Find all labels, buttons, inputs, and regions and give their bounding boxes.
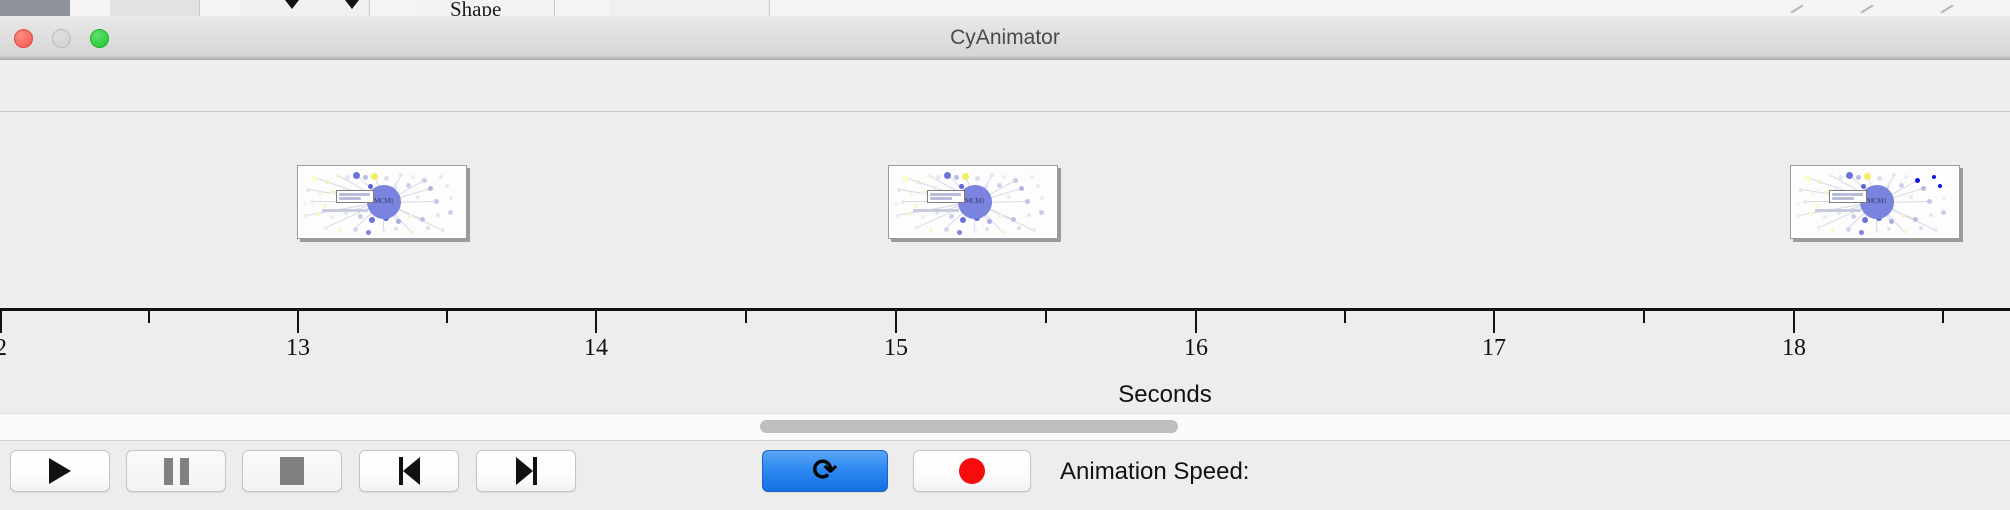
axis-tick-minor bbox=[148, 311, 150, 323]
network-node bbox=[1816, 204, 1820, 208]
frame-network-preview: MCM1 bbox=[891, 168, 1055, 236]
axis-tick-label: 15 bbox=[884, 335, 908, 362]
timeline-frame[interactable]: MCM1 bbox=[297, 165, 467, 239]
network-hub-label: MCM1 bbox=[965, 197, 984, 205]
frame-network-preview: MCM1 bbox=[1793, 168, 1957, 236]
network-node bbox=[1851, 214, 1856, 219]
network-node bbox=[901, 200, 905, 204]
pause-icon bbox=[164, 458, 189, 485]
network-node bbox=[954, 175, 959, 180]
network-node bbox=[1942, 196, 1946, 200]
network-node bbox=[1927, 199, 1932, 204]
axis-tick-label: 17 bbox=[1482, 335, 1506, 362]
axis-tick-minor bbox=[446, 311, 448, 323]
loop-button[interactable]: ⟳ bbox=[762, 450, 888, 492]
network-node bbox=[1030, 175, 1034, 179]
animation-speed-label: Animation Speed: bbox=[1060, 458, 1249, 486]
network-caption-text bbox=[1815, 209, 1861, 212]
network-node bbox=[338, 228, 342, 232]
network-node bbox=[1823, 215, 1827, 219]
network-node bbox=[1040, 196, 1044, 200]
network-node bbox=[434, 199, 439, 204]
network-node bbox=[990, 173, 994, 177]
network-node bbox=[304, 214, 308, 218]
network-node bbox=[914, 204, 918, 208]
network-node bbox=[368, 184, 373, 189]
network-node bbox=[909, 192, 913, 196]
network-node bbox=[311, 175, 318, 182]
network-node bbox=[336, 174, 340, 178]
network-node bbox=[927, 174, 931, 178]
network-annotation-text bbox=[930, 193, 961, 196]
skip-next-icon bbox=[516, 457, 537, 485]
network-node bbox=[936, 175, 941, 180]
network-node bbox=[1829, 174, 1833, 178]
network-node bbox=[324, 226, 328, 230]
network-node bbox=[1831, 228, 1835, 232]
axis-tick-major bbox=[297, 311, 299, 333]
network-node bbox=[1938, 184, 1942, 188]
network-annotation-text bbox=[1832, 197, 1854, 200]
network-node bbox=[1929, 213, 1933, 217]
network-node bbox=[448, 210, 453, 215]
network-node bbox=[408, 214, 412, 218]
network-node bbox=[1875, 229, 1879, 233]
network-caption-text bbox=[913, 209, 959, 212]
timeline-frame[interactable]: MCM1 bbox=[888, 165, 1058, 239]
network-node bbox=[1838, 175, 1843, 180]
network-node bbox=[1804, 175, 1811, 182]
network-node bbox=[1899, 183, 1904, 188]
network-node bbox=[422, 178, 427, 183]
network-node bbox=[371, 173, 378, 180]
record-icon bbox=[959, 458, 985, 484]
network-node bbox=[985, 227, 989, 231]
network-node bbox=[1934, 228, 1938, 232]
network-node bbox=[1903, 230, 1907, 234]
network-node bbox=[331, 190, 335, 194]
network-node bbox=[303, 202, 307, 206]
network-node bbox=[316, 212, 320, 216]
network-node bbox=[1803, 200, 1807, 204]
network-node bbox=[323, 204, 327, 208]
axis-tick-label: 16 bbox=[1184, 335, 1208, 362]
network-node bbox=[1859, 230, 1864, 235]
network-node bbox=[325, 180, 329, 184]
axis-tick-label: 18 bbox=[1782, 335, 1806, 362]
network-node bbox=[416, 195, 420, 199]
axis-tick-label: 2 bbox=[0, 335, 7, 362]
axis-tick-minor bbox=[1344, 311, 1346, 323]
network-node bbox=[369, 217, 375, 223]
axis-tick-major bbox=[1195, 311, 1197, 333]
network-node bbox=[1941, 210, 1946, 215]
network-annotation-text bbox=[339, 193, 370, 196]
network-node bbox=[445, 184, 449, 188]
network-node bbox=[358, 214, 363, 219]
axis-tick-major bbox=[0, 311, 2, 333]
network-node bbox=[363, 175, 368, 180]
stop-button[interactable] bbox=[242, 450, 342, 492]
network-node bbox=[1889, 219, 1894, 224]
skip-previous-icon bbox=[399, 457, 420, 485]
network-node bbox=[1915, 178, 1920, 183]
background-window-strip: Shape bbox=[0, 0, 2010, 16]
network-node bbox=[436, 213, 440, 217]
network-node bbox=[306, 188, 310, 192]
axis-tick-major bbox=[895, 311, 897, 333]
axis-tick-label: 14 bbox=[584, 335, 608, 362]
play-icon bbox=[49, 458, 71, 484]
network-node bbox=[310, 200, 314, 204]
resize-arrow-icon bbox=[1941, 4, 1954, 13]
network-node bbox=[1892, 173, 1896, 177]
network-node bbox=[1011, 217, 1016, 222]
network-node bbox=[975, 176, 980, 181]
cyanimator-window: Shape CyAnimator Clear All Frames MCM1MC… bbox=[0, 0, 2010, 510]
network-node bbox=[1877, 176, 1882, 181]
window-title: CyAnimator bbox=[0, 16, 2010, 60]
timeline-panel[interactable]: MCM1MCM1MCM1 2131415161718 Seconds bbox=[0, 113, 2010, 413]
next-button[interactable] bbox=[476, 450, 576, 492]
network-node bbox=[318, 192, 322, 196]
network-node bbox=[997, 183, 1002, 188]
network-node bbox=[929, 228, 933, 232]
previous-button[interactable] bbox=[359, 450, 459, 492]
background-window-dark-chunk bbox=[0, 0, 70, 16]
network-node bbox=[922, 190, 926, 194]
axis-tick-major bbox=[1493, 311, 1495, 333]
axis-tick-minor bbox=[745, 311, 747, 323]
network-node bbox=[1887, 227, 1891, 231]
axis-tick-major bbox=[1793, 311, 1795, 333]
axis-title: Seconds bbox=[0, 381, 2010, 409]
chevron-down-icon bbox=[285, 0, 299, 9]
network-node bbox=[1001, 230, 1005, 234]
network-node bbox=[1036, 184, 1040, 188]
network-node bbox=[411, 175, 415, 179]
network-annotation-text bbox=[1832, 193, 1863, 196]
timeline-scroll-thumb[interactable] bbox=[760, 420, 1178, 433]
network-node bbox=[1921, 186, 1926, 191]
network-node bbox=[1002, 175, 1006, 179]
loop-icon: ⟳ bbox=[812, 456, 837, 486]
network-node bbox=[1013, 178, 1018, 183]
network-node bbox=[1861, 184, 1866, 189]
timeline-frame[interactable]: MCM1 bbox=[1790, 165, 1960, 239]
chevron-down-icon bbox=[345, 0, 359, 9]
network-node bbox=[1932, 175, 1936, 179]
timeline-axis-line bbox=[0, 308, 2010, 311]
network-node bbox=[1039, 210, 1044, 215]
network-node bbox=[1811, 192, 1815, 196]
axis-tick-minor bbox=[1942, 311, 1944, 323]
network-node bbox=[1904, 175, 1908, 179]
record-button[interactable] bbox=[913, 450, 1031, 492]
network-node bbox=[426, 226, 430, 230]
network-node bbox=[1799, 188, 1803, 192]
network-node bbox=[399, 173, 403, 177]
network-hub-label: MCM1 bbox=[374, 197, 393, 205]
network-node bbox=[1017, 226, 1021, 230]
network-node bbox=[1919, 226, 1923, 230]
network-node bbox=[962, 173, 969, 180]
network-node bbox=[345, 175, 350, 180]
network-node bbox=[1901, 214, 1905, 218]
network-node bbox=[1007, 195, 1011, 199]
network-node bbox=[949, 214, 954, 219]
network-node bbox=[973, 229, 977, 233]
transport-bar: ⟳ Animation Speed: bbox=[0, 442, 2010, 510]
pause-button[interactable] bbox=[126, 450, 226, 492]
stop-icon bbox=[280, 457, 304, 485]
network-node bbox=[944, 172, 951, 179]
network-node bbox=[894, 202, 898, 206]
network-node bbox=[1027, 213, 1031, 217]
network-node bbox=[1846, 172, 1853, 179]
network-node bbox=[1909, 195, 1913, 199]
network-node bbox=[959, 184, 964, 189]
network-node bbox=[410, 230, 414, 234]
network-caption-text bbox=[322, 209, 368, 212]
network-node bbox=[439, 175, 443, 179]
network-node bbox=[944, 227, 949, 232]
network-node bbox=[1796, 202, 1800, 206]
network-node bbox=[1864, 173, 1871, 180]
network-node bbox=[1862, 217, 1868, 223]
axis-tick-minor bbox=[1045, 311, 1047, 323]
network-node bbox=[1817, 226, 1821, 230]
resize-arrow-icon bbox=[1791, 4, 1804, 13]
network-node bbox=[366, 230, 371, 235]
network-node bbox=[1025, 199, 1030, 204]
window-titlebar: CyAnimator bbox=[0, 16, 2010, 60]
network-node bbox=[1856, 175, 1861, 180]
network-node bbox=[441, 228, 445, 232]
axis-title-label: Seconds bbox=[1118, 381, 1211, 408]
network-node bbox=[382, 229, 386, 233]
network-node bbox=[1019, 186, 1024, 191]
axis-tick-major bbox=[595, 311, 597, 333]
axis-tick-label: 13 bbox=[286, 335, 310, 362]
network-node bbox=[897, 188, 901, 192]
network-node bbox=[957, 230, 962, 235]
network-node bbox=[1797, 214, 1801, 218]
network-node bbox=[449, 196, 453, 200]
network-node bbox=[353, 227, 358, 232]
background-window-label: Shape bbox=[450, 0, 501, 16]
network-annotation-text bbox=[339, 197, 361, 200]
network-node bbox=[353, 172, 360, 179]
frame-network-preview: MCM1 bbox=[300, 168, 464, 236]
network-node bbox=[1032, 228, 1036, 232]
network-node bbox=[902, 175, 909, 182]
network-node bbox=[907, 212, 911, 216]
background-window-chunk bbox=[110, 0, 200, 16]
network-node bbox=[384, 176, 389, 181]
network-node bbox=[987, 219, 992, 224]
network-node bbox=[428, 186, 433, 191]
network-node bbox=[420, 217, 425, 222]
network-node bbox=[999, 214, 1003, 218]
network-node bbox=[1824, 190, 1828, 194]
network-node bbox=[960, 217, 966, 223]
network-annotation-text bbox=[930, 197, 952, 200]
play-button[interactable] bbox=[10, 450, 110, 492]
network-node bbox=[394, 227, 398, 231]
frames-toolbar: Clear All Frames bbox=[0, 60, 2010, 112]
network-node bbox=[1809, 212, 1813, 216]
network-node bbox=[895, 214, 899, 218]
network-node bbox=[1846, 227, 1851, 232]
network-node bbox=[921, 215, 925, 219]
network-node bbox=[916, 180, 920, 184]
axis-tick-minor bbox=[1643, 311, 1645, 323]
network-node bbox=[330, 215, 334, 219]
network-node bbox=[1818, 180, 1822, 184]
network-node bbox=[915, 226, 919, 230]
network-node bbox=[406, 183, 411, 188]
resize-arrow-icon bbox=[1861, 4, 1874, 13]
network-node bbox=[396, 219, 401, 224]
background-window-chunk bbox=[610, 0, 770, 16]
network-node bbox=[1913, 217, 1918, 222]
network-hub-label: MCM1 bbox=[1867, 197, 1886, 205]
